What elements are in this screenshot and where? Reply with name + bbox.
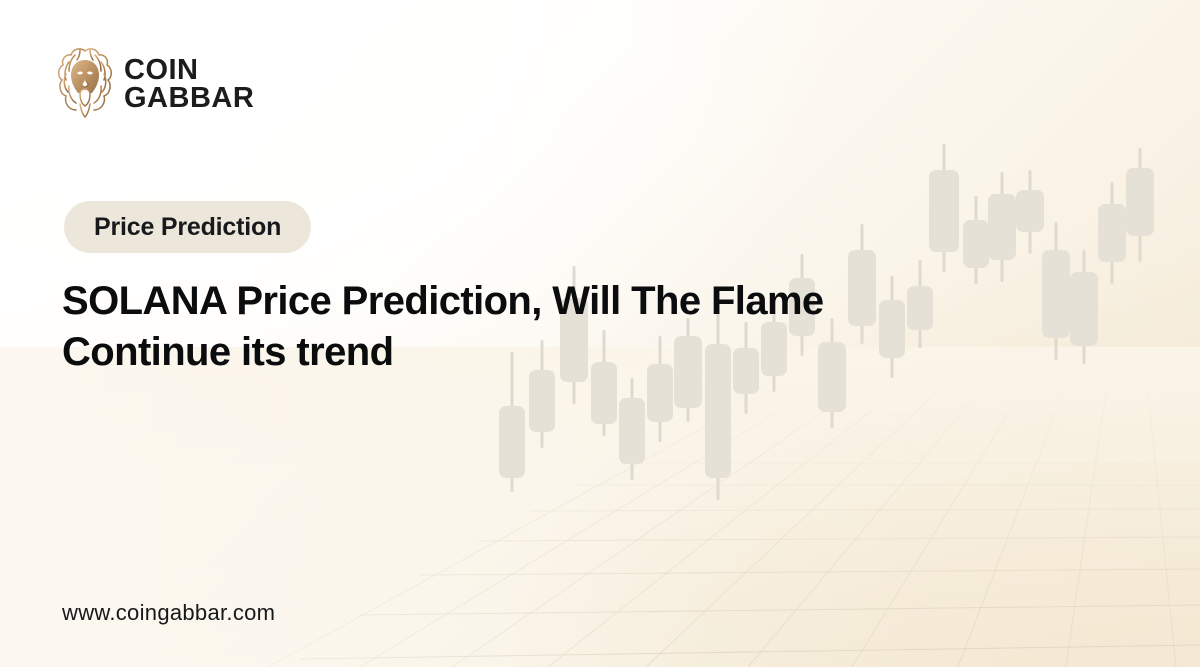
candlestick-body (1126, 168, 1154, 236)
candlestick-body (619, 398, 645, 464)
lion-head-icon (56, 46, 114, 122)
brand-wordmark: COIN GABBAR (124, 56, 254, 113)
candlestick (929, 144, 959, 272)
candlestick (1070, 250, 1098, 364)
candlestick-wick (1001, 172, 1004, 282)
candlestick (1016, 170, 1044, 254)
candlestick-wick (1083, 250, 1086, 364)
candlestick-body (529, 370, 555, 432)
category-badge-label: Price Prediction (94, 213, 281, 242)
candlestick-wick (631, 378, 634, 480)
candlestick (619, 378, 645, 480)
candlestick (963, 196, 989, 284)
category-badge[interactable]: Price Prediction (64, 201, 311, 253)
candlestick (1098, 182, 1126, 284)
candlestick-wick (975, 196, 978, 284)
brand-name-line-2: GABBAR (124, 84, 254, 112)
brand-logo[interactable]: COIN GABBAR (56, 46, 254, 122)
candlestick-body (963, 220, 989, 268)
candlestick-body (499, 406, 525, 478)
candlestick (1126, 148, 1154, 262)
candlestick-wick (1029, 170, 1032, 254)
candlestick-body (929, 170, 959, 252)
site-url: www.coingabbar.com (62, 600, 275, 626)
candlestick-wick (1111, 182, 1114, 284)
candlestick-wick (943, 144, 946, 272)
candlestick-body (1070, 272, 1098, 346)
page-title: SOLANA Price Prediction, Will The Flame … (62, 276, 1062, 378)
candlestick-wick (1139, 148, 1142, 262)
price-prediction-banner: COIN GABBAR Price Prediction SOLANA Pric… (0, 0, 1200, 667)
candlestick-body (1098, 204, 1126, 262)
candlestick-body (988, 194, 1016, 260)
candlestick (988, 172, 1016, 282)
brand-name-line-1: COIN (124, 56, 254, 84)
candlestick-body (1016, 190, 1044, 232)
